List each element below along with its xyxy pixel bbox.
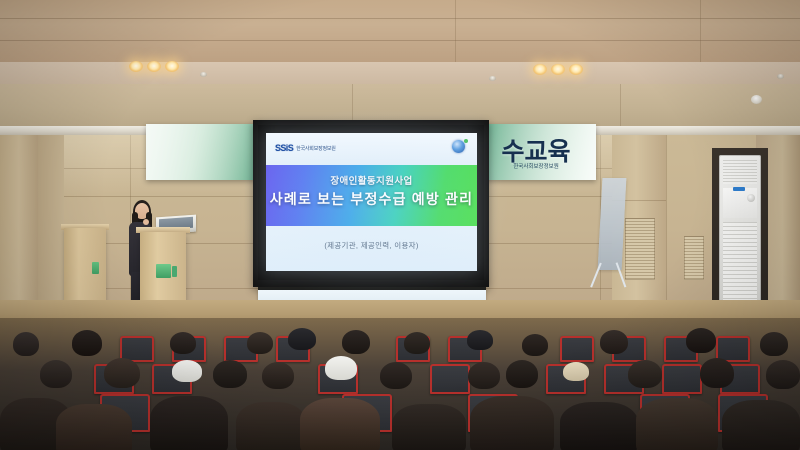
audience-person <box>470 396 554 450</box>
audience-head <box>686 328 716 353</box>
main-podium-emblem-accent-icon <box>172 266 177 277</box>
audience-head <box>760 332 788 356</box>
audience-head <box>342 330 370 354</box>
left-wall-column <box>0 135 38 320</box>
audience-head <box>766 360 800 389</box>
audience-head <box>104 358 140 388</box>
slide-title-line1: 장애인활동지원사업 <box>266 173 477 187</box>
audience-head <box>40 360 72 388</box>
audience-head <box>247 332 273 354</box>
audience-area <box>0 318 800 450</box>
organization-circle-logo-icon <box>452 140 465 153</box>
audience-person <box>722 400 800 450</box>
secondary-podium-emblem-icon <box>92 262 99 274</box>
audience-head <box>72 330 102 356</box>
audience-white-cap-icon <box>172 360 202 382</box>
x-banner-stand <box>598 178 627 270</box>
presenter-hand <box>143 219 149 225</box>
auditorium-seat[interactable] <box>430 364 470 394</box>
presentation-slide: SSiS 한국사회보장정보원 장애인활동지원사업 사례로 보는 부정수급 예방 … <box>266 133 477 271</box>
ac-brand-badge <box>733 187 745 191</box>
ceiling-upper-panel <box>0 0 800 62</box>
audience-head <box>522 334 548 356</box>
wall-ventilation-grille <box>625 218 655 280</box>
ceiling-spotlight-icon <box>147 61 161 72</box>
ceiling-spotlight-icon <box>129 61 143 72</box>
ceiling-spotlight-icon <box>533 64 547 75</box>
auditorium-seat[interactable] <box>662 364 702 394</box>
ac-display-knob[interactable] <box>747 194 755 202</box>
audience-head <box>506 360 538 388</box>
wall-ventilation-grille-2 <box>684 236 704 280</box>
main-podium-emblem-icon <box>156 264 171 278</box>
audience-white-cap-icon <box>325 356 357 380</box>
ac-control-panel[interactable] <box>723 188 757 218</box>
smoke-detector-icon <box>777 74 784 79</box>
smoke-detector-icon <box>489 76 496 81</box>
ac-bottom-grille <box>723 222 757 300</box>
slide-logo-group: SSiS 한국사회보장정보원 <box>275 143 336 153</box>
audience-head <box>380 362 412 389</box>
auditorium-seat[interactable] <box>560 336 594 362</box>
ceiling-speaker-icon <box>751 95 762 104</box>
photo-scene: 2025년 주관 / 주최 수교육 한국사회보장정보원 SSiS 한국사회보장정… <box>0 0 800 450</box>
audience-head <box>600 330 628 354</box>
ceiling-trim-band <box>0 62 800 84</box>
audience-head <box>213 360 247 388</box>
audience-head <box>468 362 500 389</box>
audience-dark-cap-icon <box>288 328 316 350</box>
audience-person <box>300 398 380 450</box>
audience-person <box>236 402 306 450</box>
slide-title-line2: 사례로 보는 부정수급 예방 관리 <box>266 189 477 209</box>
audience-head <box>262 362 294 389</box>
audience-person <box>56 404 132 450</box>
ac-top-grille <box>723 160 757 184</box>
audience-beige-cap-icon <box>563 362 589 381</box>
audience-head <box>170 332 196 354</box>
audience-person <box>636 398 718 450</box>
ssis-logo-icon: SSiS <box>275 143 293 153</box>
ceiling-spotlight-icon <box>165 61 179 72</box>
ceiling-spotlight-icon <box>551 64 565 75</box>
audience-dark-cap-icon <box>467 330 493 350</box>
organization-logo-accent-dot-icon <box>464 139 468 143</box>
audience-person <box>150 396 228 450</box>
audience-head <box>13 332 39 356</box>
slide-subtitle: (제공기관, 제공인력, 이용자) <box>266 240 477 251</box>
smoke-detector-icon <box>200 72 207 77</box>
audience-head <box>628 360 662 388</box>
ceiling-spotlight-icon <box>569 64 583 75</box>
audience-person <box>392 404 466 450</box>
audience-head <box>404 332 430 354</box>
ssis-logo-label: 한국사회보장정보원 <box>296 145 336 152</box>
audience-person <box>560 402 638 450</box>
banner-right-sub-label: 한국사회보장정보원 <box>480 162 592 170</box>
audience-head <box>700 358 734 388</box>
